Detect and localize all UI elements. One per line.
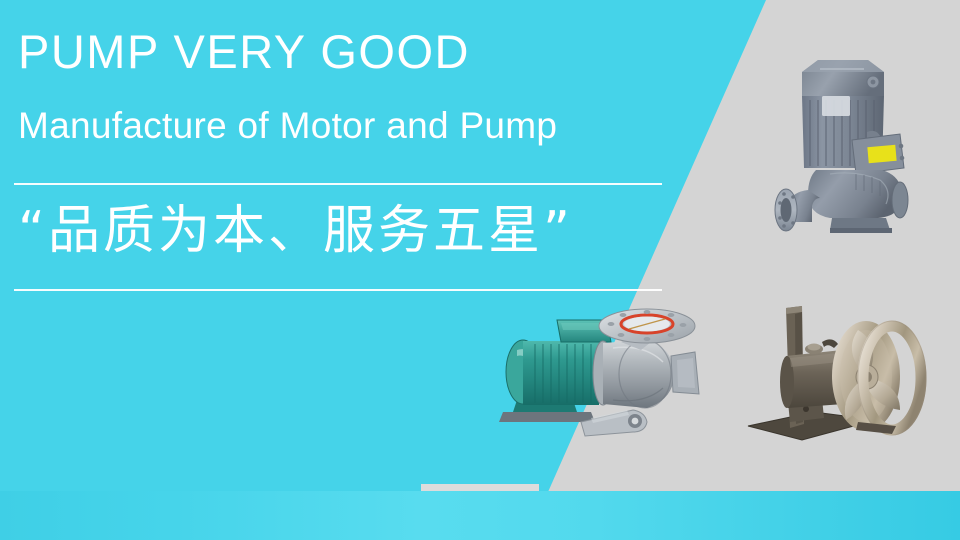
headline-title: PUMP VERY GOOD bbox=[18, 25, 470, 79]
subheadline-text: Manufacture of Motor and Pump bbox=[18, 105, 557, 148]
product-image-motor-pump bbox=[495, 300, 725, 480]
slogan-text: “品质为本、服务五星” bbox=[18, 198, 573, 266]
bottom-accent-bar bbox=[0, 491, 960, 540]
divider-rule-top bbox=[14, 183, 662, 185]
divider-rule-bottom bbox=[14, 289, 662, 291]
product-image-inline-pump bbox=[760, 50, 930, 240]
product-image-submersible-mixer bbox=[740, 292, 935, 462]
promo-banner: PUMP VERY GOOD Manufacture of Motor and … bbox=[0, 0, 960, 540]
